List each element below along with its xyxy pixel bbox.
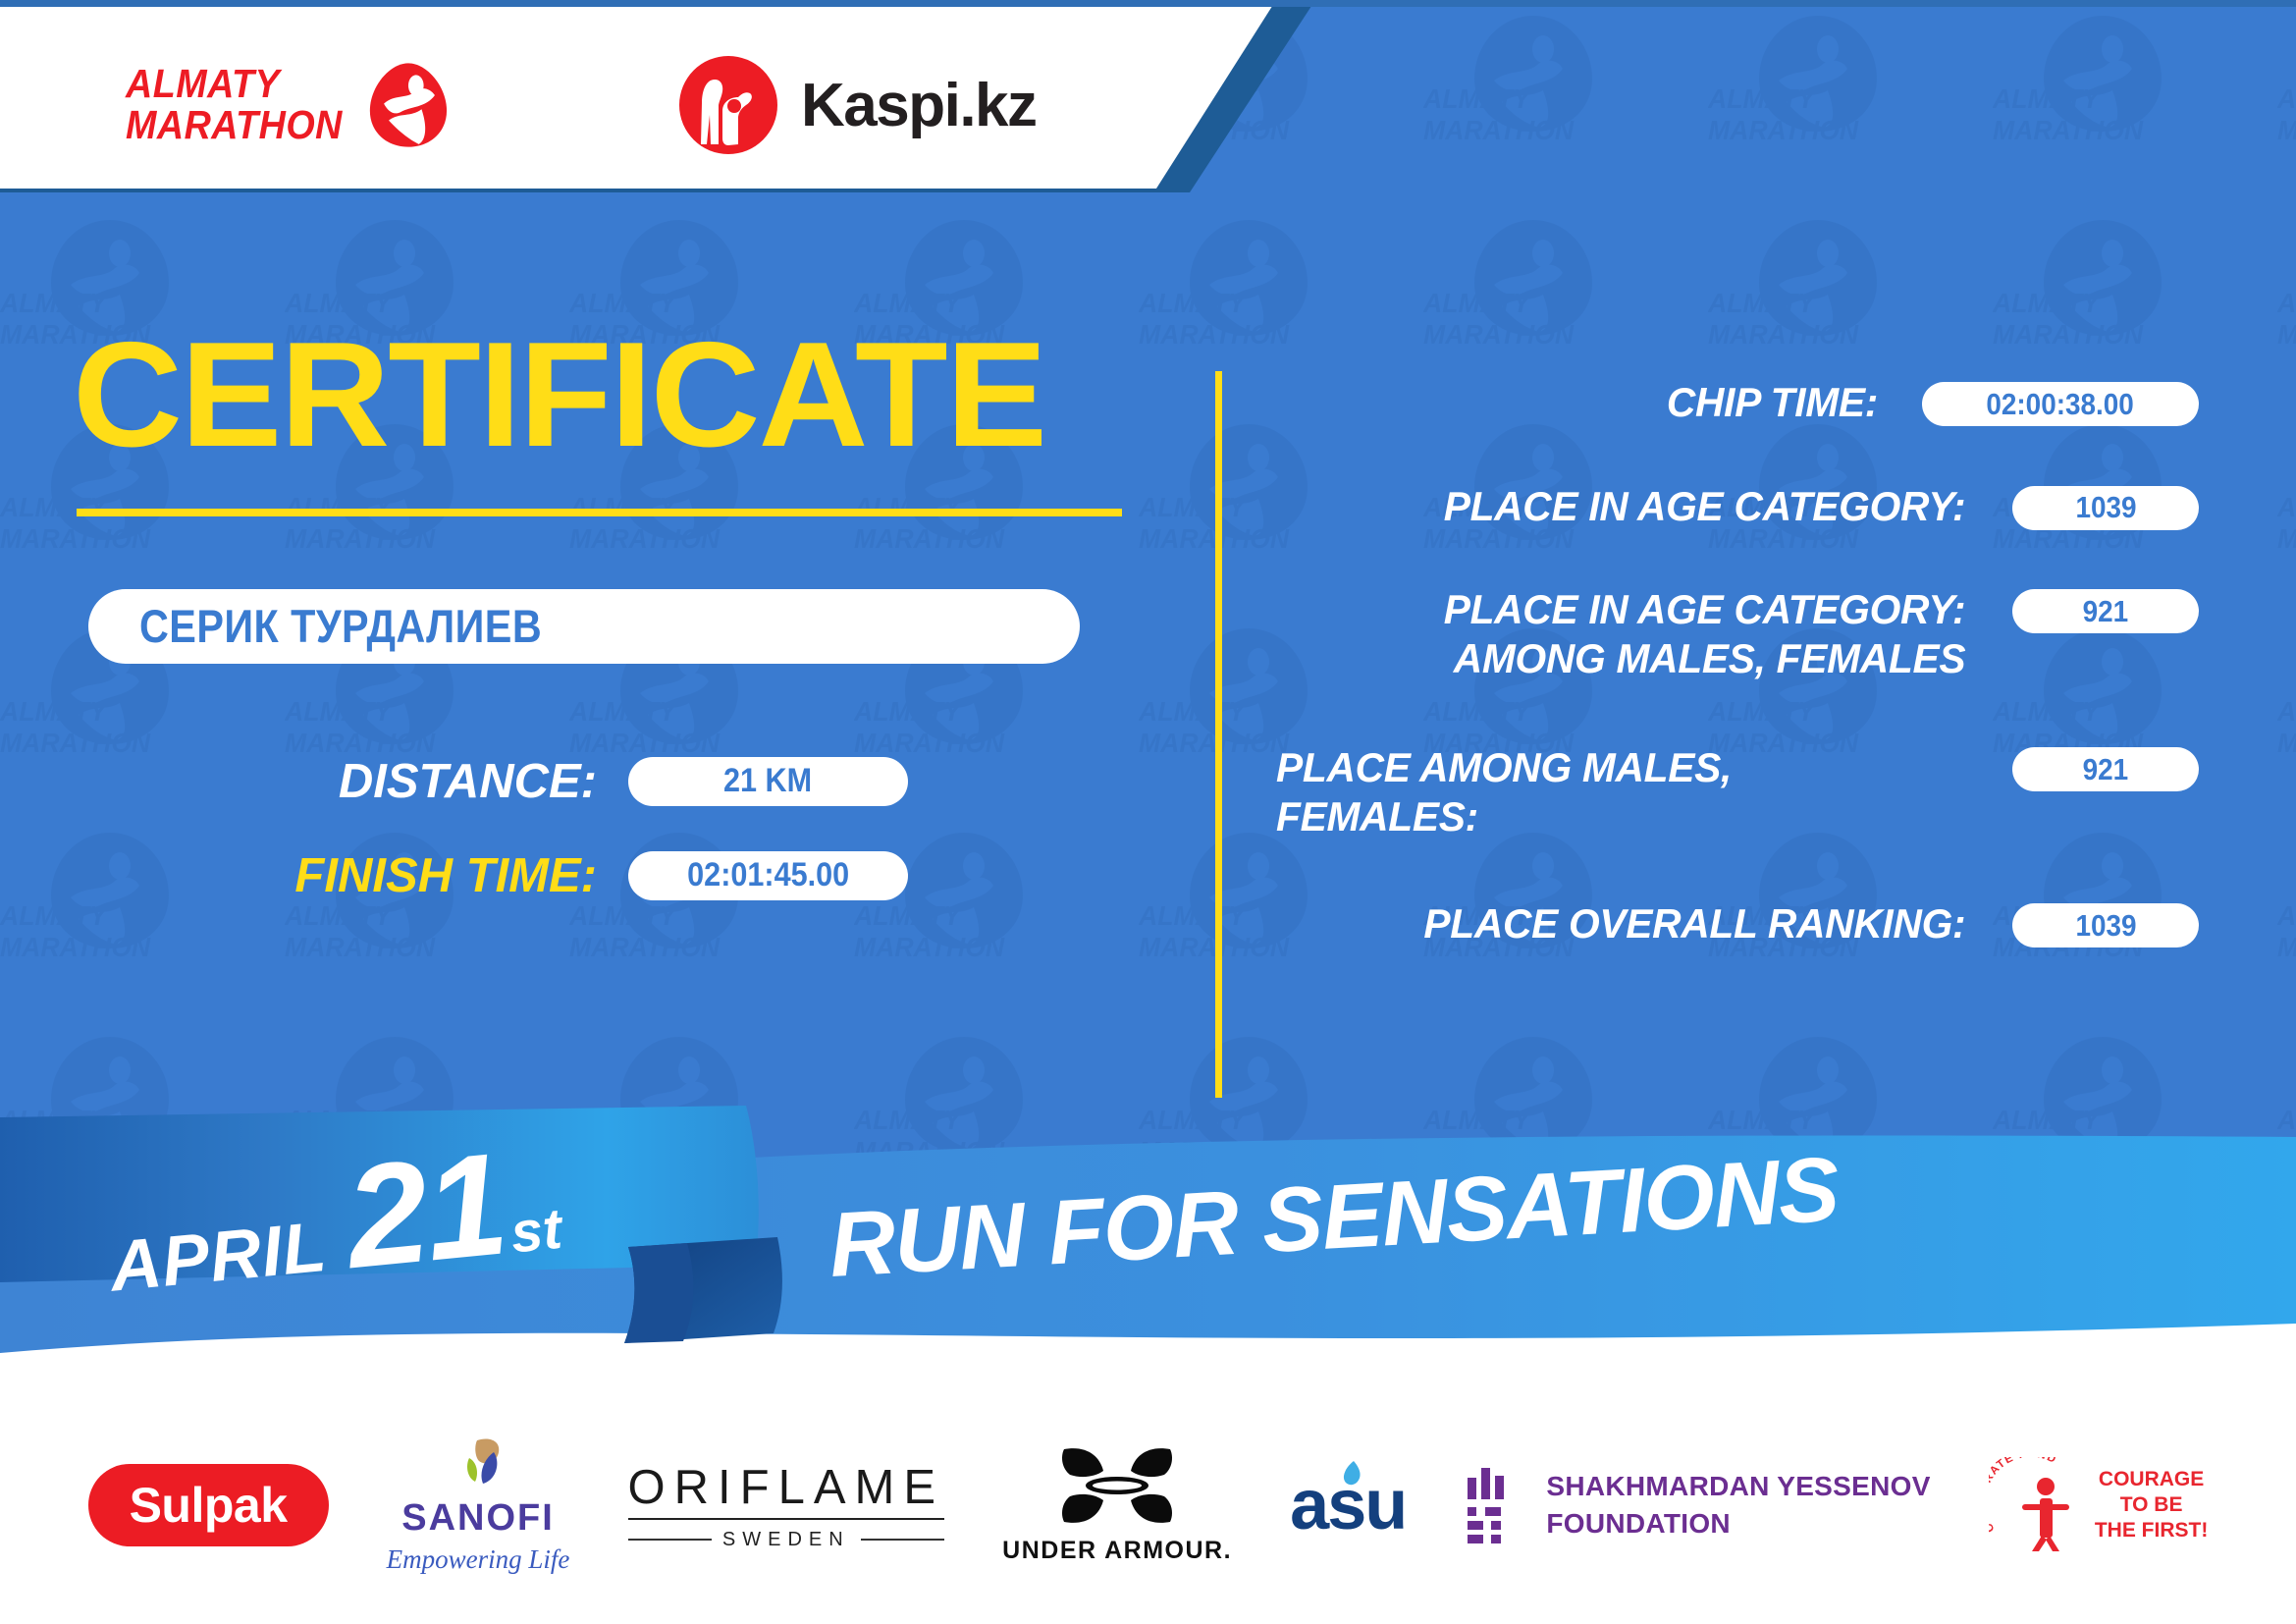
place-overall-ranking-label: PLACE OVERALL RANKING: — [1276, 899, 1965, 948]
certificate-canvas: ALMATY MARATHON ALMATY MARATHON Kas — [0, 0, 2296, 1624]
sponsor-footer: Sulpak SANOFI Empowering Life ORIFLAME S… — [0, 1386, 2296, 1624]
place-age-category-among-value-pill: 921 — [2012, 589, 2199, 633]
distance-value-pill: 21 KM — [628, 757, 908, 806]
place-among-males-females-label: PLACE AMONG MALES,FEMALES: — [1276, 743, 1965, 840]
stat-row-place-among-males-females: PLACE AMONG MALES,FEMALES: 921 — [1276, 743, 2199, 840]
distance-label: DISTANCE: — [88, 754, 628, 809]
event-day: 21 — [340, 1121, 512, 1303]
place-age-category-value-pill: 1039 — [2012, 486, 2199, 530]
left-column: CERTIFICATE СЕРИК ТУРДАЛИЕВ DISTANCE: 21… — [0, 324, 1207, 903]
participant-name: СЕРИК ТУРДАЛИЕВ — [139, 599, 542, 653]
under-armour-wordmark: UNDER ARMOUR. — [1002, 1537, 1232, 1565]
yessenov-mark-icon — [1464, 1464, 1521, 1546]
sanofi-wordmark: SANOFI — [401, 1497, 555, 1540]
sponsor-under-armour: UNDER ARMOUR. — [1002, 1445, 1232, 1565]
yessenov-line1: SHAKHMARDAN YESSENOV — [1546, 1468, 1930, 1505]
stat-row-place-age-category-among: PLACE IN AGE CATEGORY:AMONG MALES, FEMAL… — [1276, 585, 2199, 682]
yessenov-wrap: SHAKHMARDAN YESSENOV FOUNDATION — [1464, 1464, 1930, 1546]
sponsor-asu: asu — [1290, 1465, 1406, 1545]
place-age-category-label: PLACE IN AGE CATEGORY: — [1276, 482, 1965, 531]
stat-row-place-overall-ranking: PLACE OVERALL RANKING: 1039 — [1276, 899, 2199, 948]
stat-row-chip-time: CHIP TIME: 02:00:38.00 — [1276, 378, 2199, 427]
place-age-category-among-value: 921 — [2083, 594, 2129, 629]
oriflame-sub-label: SWEDEN — [722, 1529, 850, 1551]
yessenov-wordmark: SHAKHMARDAN YESSENOV FOUNDATION — [1546, 1468, 1930, 1543]
event-day-suffix: st — [507, 1196, 564, 1267]
sponsor-yessenov-foundation: SHAKHMARDAN YESSENOV FOUNDATION — [1464, 1464, 1930, 1546]
place-overall-ranking-value: 1039 — [2075, 908, 2136, 944]
finish-time-row: FINISH TIME: 02:01:45.00 — [88, 848, 1207, 903]
right-column-stats: CHIP TIME: 02:00:38.00 PLACE IN AGE CATE… — [1276, 378, 2199, 992]
under-armour-icon — [1056, 1445, 1178, 1528]
cf-line1: COURAGE — [2095, 1467, 2209, 1492]
asu-wordmark: asu — [1290, 1465, 1406, 1545]
corporate-fund-wrap: CORPORATE FUND COURAGE TO BE THE FIRST! — [1989, 1457, 2209, 1553]
corporate-fund-icon: CORPORATE FUND — [1989, 1457, 2083, 1553]
sanofi-tagline: Empowering Life — [387, 1544, 570, 1575]
yessenov-line2: FOUNDATION — [1546, 1505, 1930, 1543]
sponsor-sulpak: Sulpak — [88, 1464, 329, 1546]
place-overall-ranking-value-pill: 1039 — [2012, 903, 2199, 947]
asu-droplet-icon — [1341, 1459, 1364, 1492]
oriflame-line-left — [628, 1539, 712, 1541]
finish-time-value-pill: 02:01:45.00 — [628, 851, 908, 900]
sponsor-sanofi: SANOFI Empowering Life — [387, 1436, 570, 1575]
sponsor-oriflame: ORIFLAME SWEDEN — [628, 1460, 944, 1551]
cf-line2: TO BE — [2095, 1492, 2209, 1518]
place-age-category-among-label: PLACE IN AGE CATEGORY:AMONG MALES, FEMAL… — [1276, 585, 1965, 682]
chip-time-value: 02:00:38.00 — [1987, 387, 2134, 422]
chip-time-label: CHIP TIME: — [1276, 378, 1878, 427]
distance-row: DISTANCE: 21 KM — [88, 754, 1207, 809]
oriflame-sub-row: SWEDEN — [628, 1529, 944, 1551]
place-among-males-females-value: 921 — [2083, 752, 2129, 787]
event-month: APRIL — [107, 1207, 331, 1308]
oriflame-wordmark: ORIFLAME — [628, 1460, 944, 1515]
sponsor-corporate-fund: CORPORATE FUND COURAGE TO BE THE FIRST! — [1989, 1457, 2209, 1553]
vertical-divider — [1215, 371, 1222, 1098]
title-underline — [77, 509, 1122, 516]
certificate-title: CERTIFICATE — [73, 324, 1230, 467]
place-among-males-females-value-pill: 921 — [2012, 747, 2199, 791]
finish-time-label: FINISH TIME: — [88, 848, 628, 903]
corporate-fund-slogan: COURAGE TO BE THE FIRST! — [2095, 1467, 2209, 1544]
chip-time-value-pill: 02:00:38.00 — [1922, 382, 2199, 426]
oriflame-rule — [628, 1518, 944, 1520]
sulpak-logo: Sulpak — [88, 1464, 329, 1546]
place-age-category-value: 1039 — [2075, 490, 2136, 525]
distance-value: 21 KM — [723, 762, 812, 800]
stat-row-place-age-category: PLACE IN AGE CATEGORY: 1039 — [1276, 482, 2199, 531]
cf-line3: THE FIRST! — [2095, 1518, 2209, 1543]
participant-name-field: СЕРИК ТУРДАЛИЕВ — [88, 589, 1080, 664]
finish-time-value: 02:01:45.00 — [687, 856, 849, 894]
oriflame-line-right — [861, 1539, 944, 1541]
sanofi-icon — [442, 1436, 514, 1497]
